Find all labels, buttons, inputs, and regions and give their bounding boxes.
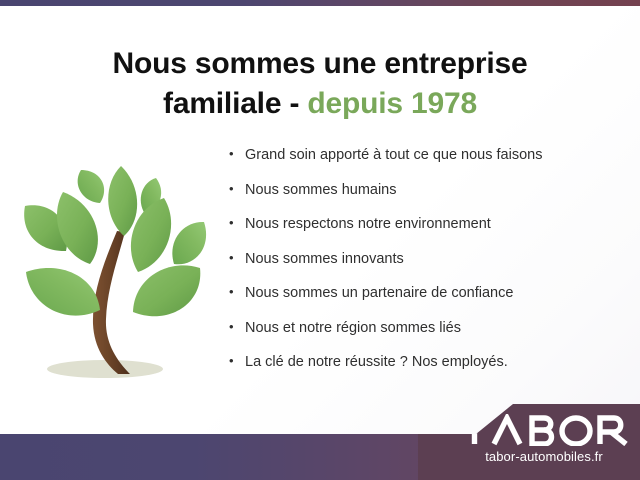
tree-leaf-5 (108, 166, 137, 236)
brand-logo-panel[interactable]: tabor-automobiles.fr (418, 404, 640, 480)
list-item: La clé de notre réussite ? Nos employés. (228, 355, 628, 370)
tree-illustration (8, 158, 223, 388)
brand-website-url[interactable]: tabor-automobiles.fr (458, 449, 630, 464)
top-accent-bar (0, 0, 640, 6)
list-item: Grand soin apporté à tout ce que nous fa… (228, 148, 628, 163)
tabor-wordmark-logo (458, 414, 630, 446)
value-proposition-list: Grand soin apporté à tout ce que nous fa… (228, 148, 628, 390)
page-title-line-2: familiale - depuis 1978 (40, 84, 600, 124)
tree-leaf-3 (57, 192, 98, 264)
page-title-highlight: depuis 1978 (307, 87, 477, 120)
list-item: Nous sommes un partenaire de confiance (228, 286, 628, 301)
tree-leaf-9 (133, 265, 200, 316)
tree-leaf-7 (131, 198, 171, 272)
slide-canvas: Nous sommes une entreprise familiale - d… (0, 0, 640, 480)
tree-leaf-1 (26, 268, 100, 316)
list-item: Nous sommes humains (228, 183, 628, 198)
page-title-line-2-black: familiale - (163, 87, 307, 120)
tree-shadow (47, 360, 163, 378)
page-title-line-1: Nous sommes une entreprise (113, 47, 528, 80)
tree-leaf-8 (172, 222, 206, 264)
list-item: Nous et notre région sommes liés (228, 321, 628, 336)
tree-leaf-4 (78, 170, 104, 203)
list-item: Nous respectons notre environnement (228, 217, 628, 232)
list-item: Nous sommes innovants (228, 252, 628, 267)
page-title: Nous sommes une entreprise familiale - d… (40, 44, 600, 123)
